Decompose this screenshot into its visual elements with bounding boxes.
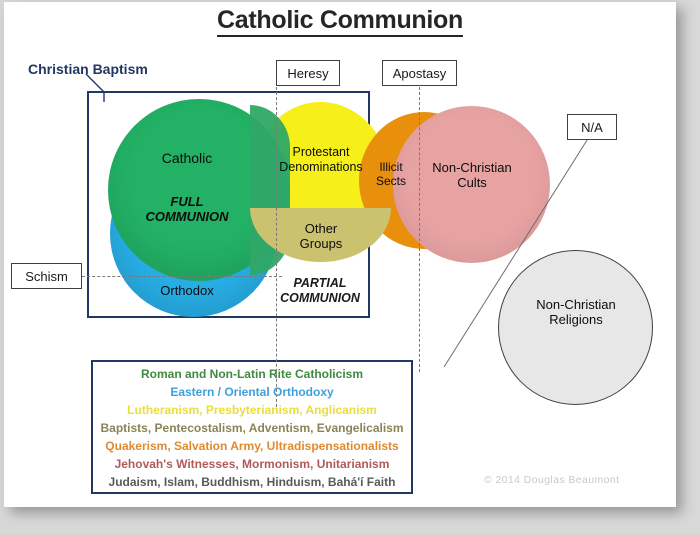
callout-christian-baptism: Christian Baptism [28, 61, 148, 77]
apostasy-leader-line [419, 87, 420, 372]
copyright-text: © 2014 Douglas Beaumont [484, 474, 619, 486]
callout-apostasy[interactable]: Apostasy [382, 60, 457, 86]
na-leader-line [424, 132, 594, 372]
page-title: Catholic Communion [4, 6, 676, 35]
label-other-groups: Other Groups [272, 221, 370, 252]
label-partial-communion: PARTIAL COMMUNION [272, 276, 368, 306]
slide-page: Catholic Communion Catholic FULL COMMUNI… [4, 2, 676, 507]
page-title-text: Catholic Communion [217, 6, 463, 37]
callout-na[interactable]: N/A [567, 114, 617, 140]
legend-line: Quakerism, Salvation Army, Ultradispensa… [93, 437, 411, 455]
label-catholic: Catholic [132, 150, 242, 167]
heresy-leader-line [276, 87, 277, 407]
legend-line: Eastern / Oriental Orthodoxy [93, 383, 411, 401]
label-orthodox: Orthodox [132, 283, 242, 298]
legend-line: Judaism, Islam, Buddhism, Hinduism, Bahá… [93, 473, 411, 491]
legend-line: Lutheranism, Presbyterianism, Anglicanis… [93, 401, 411, 419]
legend-line: Jehovah's Witnesses, Mormonism, Unitaria… [93, 455, 411, 473]
callout-heresy[interactable]: Heresy [276, 60, 340, 86]
legend-line: Roman and Non-Latin Rite Catholicism [93, 365, 411, 383]
schism-leader-line [82, 276, 282, 277]
callout-schism[interactable]: Schism [11, 263, 82, 289]
legend-box: Roman and Non-Latin Rite Catholicism Eas… [91, 360, 413, 494]
diagram-canvas: Catholic Communion Catholic FULL COMMUNI… [0, 0, 700, 535]
legend-line: Baptists, Pentecostalism, Adventism, Eva… [93, 419, 411, 437]
label-full-communion: FULL COMMUNION [130, 194, 244, 225]
